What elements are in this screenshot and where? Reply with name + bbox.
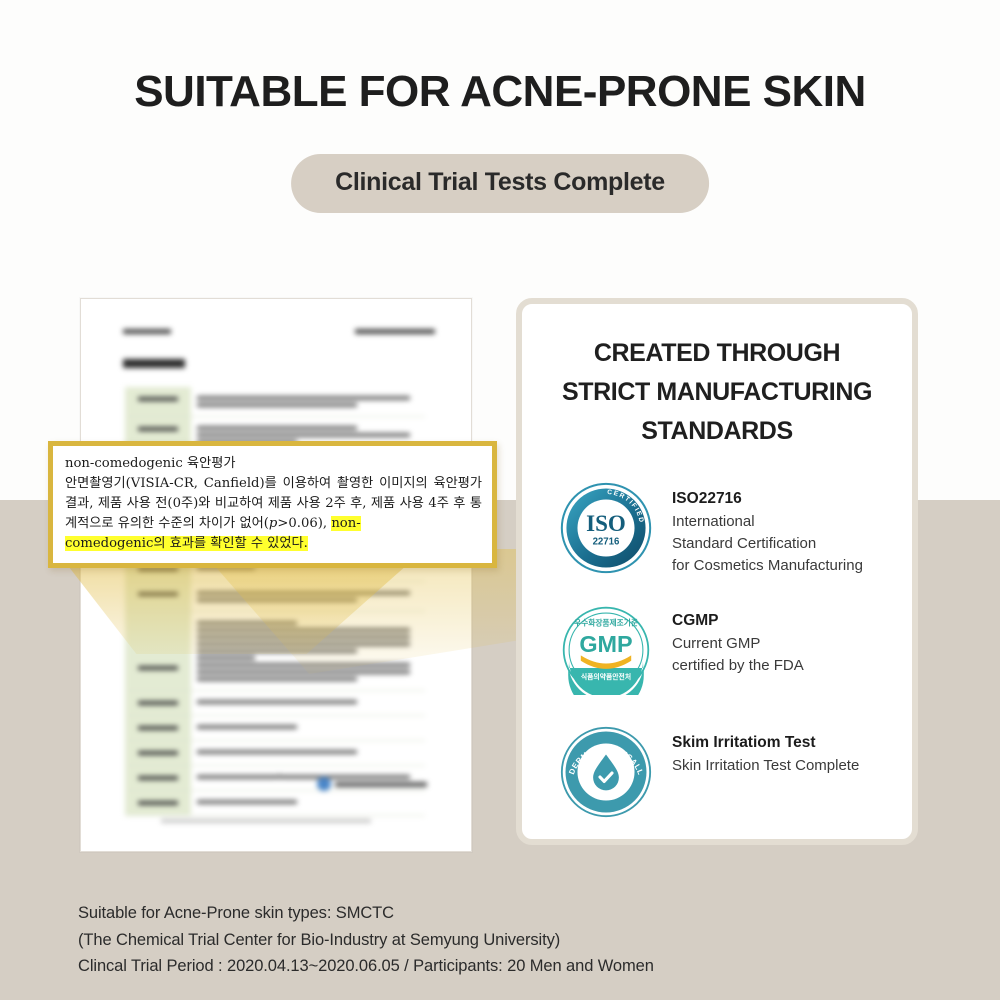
table-row	[125, 387, 425, 417]
cert-title-line-1: CREATED THROUGH	[546, 334, 888, 373]
callout-body: 안면촬영기(VISIA-CR, Canfield)를 이용하여 촬영한 이미지의…	[65, 474, 482, 554]
svg-text:22716: 22716	[593, 537, 620, 548]
cert-desc-line-1: Current GMP	[672, 633, 804, 655]
manufacturing-standards-card: CREATED THROUGH STRICT MANUFACTURING STA…	[516, 298, 918, 845]
cert-name: CGMP	[672, 612, 804, 630]
list-item-skin-irritation-test[interactable]: DERMATOLOGICALLY TESTED Skim Irritatiom …	[522, 720, 912, 824]
certification-list: CERTIFIED ISO 22716 ISO22716 Internation…	[522, 476, 912, 824]
document-page-number	[277, 774, 282, 779]
iso-certified-seal-icon: CERTIFIED ISO 22716	[554, 476, 658, 580]
table-row	[125, 691, 425, 716]
cert-text-block: ISO22716 International Standard Certific…	[658, 476, 863, 576]
document-section-title	[123, 359, 185, 368]
callout-heading-line: non-comedogenic 육안평가	[65, 454, 482, 474]
status-badge-clinical-trial: Clinical Trial Tests Complete	[291, 154, 709, 213]
document-header-right	[355, 329, 435, 334]
cert-text-block: CGMP Current GMP certified by the FDA	[658, 598, 804, 677]
svg-text:우수화장품제조기준: 우수화장품제조기준	[574, 618, 638, 628]
document-header-left	[123, 329, 171, 334]
list-item-cgmp[interactable]: 우수화장품제조기준 GMP 식품의약품안전처 CGMP Current GMP …	[522, 598, 912, 702]
document-footer-note	[161, 819, 371, 823]
cert-name: Skim Irritatiom Test	[672, 734, 859, 752]
document-official-seal	[317, 777, 427, 791]
trial-info-footer: Suitable for Acne-Prone skin types: SMCT…	[78, 900, 938, 980]
cert-desc-line-1: Skin Irritation Test Complete	[672, 755, 859, 777]
cert-desc-line-1: International	[672, 511, 863, 533]
callout-highlight-1: non-	[331, 516, 360, 531]
table-row	[125, 582, 425, 612]
svg-text:식품의약품안전처: 식품의약품안전처	[581, 672, 631, 681]
page-title: SUITABLE FOR ACNE-PRONE SKIN	[0, 68, 1000, 116]
cgmp-seal-icon: 우수화장품제조기준 GMP 식품의약품안전처	[554, 598, 658, 702]
dermatologically-tested-seal-icon: DERMATOLOGICALLY TESTED	[554, 720, 658, 824]
table-row	[125, 612, 425, 691]
clinical-report-document-image[interactable]	[80, 298, 472, 852]
cert-name: ISO22716	[672, 490, 863, 508]
table-row	[125, 716, 425, 741]
callout-highlight-2: comedogenic의 효과를 확인할 수 있었다.	[65, 536, 308, 551]
list-item-iso22716[interactable]: CERTIFIED ISO 22716 ISO22716 Internation…	[522, 476, 912, 580]
callout-body-part2: >0.06),	[277, 516, 331, 531]
footer-line-2: (The Chemical Trial Center for Bio-Indus…	[78, 927, 938, 954]
footer-line-1: Suitable for Acne-Prone skin types: SMCT…	[78, 900, 938, 927]
cert-desc-line-2: certified by the FDA	[672, 655, 804, 677]
table-row	[125, 741, 425, 766]
document-blurred-content	[81, 299, 471, 851]
cert-card-title: CREATED THROUGH STRICT MANUFACTURING STA…	[546, 334, 888, 450]
page-root: SUITABLE FOR ACNE-PRONE SKIN Clinical Tr…	[0, 0, 1000, 1000]
cert-text-block: Skim Irritatiom Test Skin Irritation Tes…	[658, 720, 859, 777]
svg-text:ISO: ISO	[586, 511, 626, 536]
table-row	[125, 791, 425, 816]
footer-line-3: Clincal Trial Period : 2020.04.13~2020.0…	[78, 953, 938, 980]
highlighted-excerpt-callout: non-comedogenic 육안평가 안면촬영기(VISIA-CR, Can…	[48, 441, 497, 568]
cert-title-line-2: STRICT MANUFACTURING	[546, 373, 888, 412]
cert-desc-line-3: for Cosmetics Manufacturing	[672, 555, 863, 577]
cert-desc-line-2: Standard Certification	[672, 533, 863, 555]
svg-text:GMP: GMP	[579, 631, 632, 657]
cert-title-line-3: STANDARDS	[546, 412, 888, 451]
